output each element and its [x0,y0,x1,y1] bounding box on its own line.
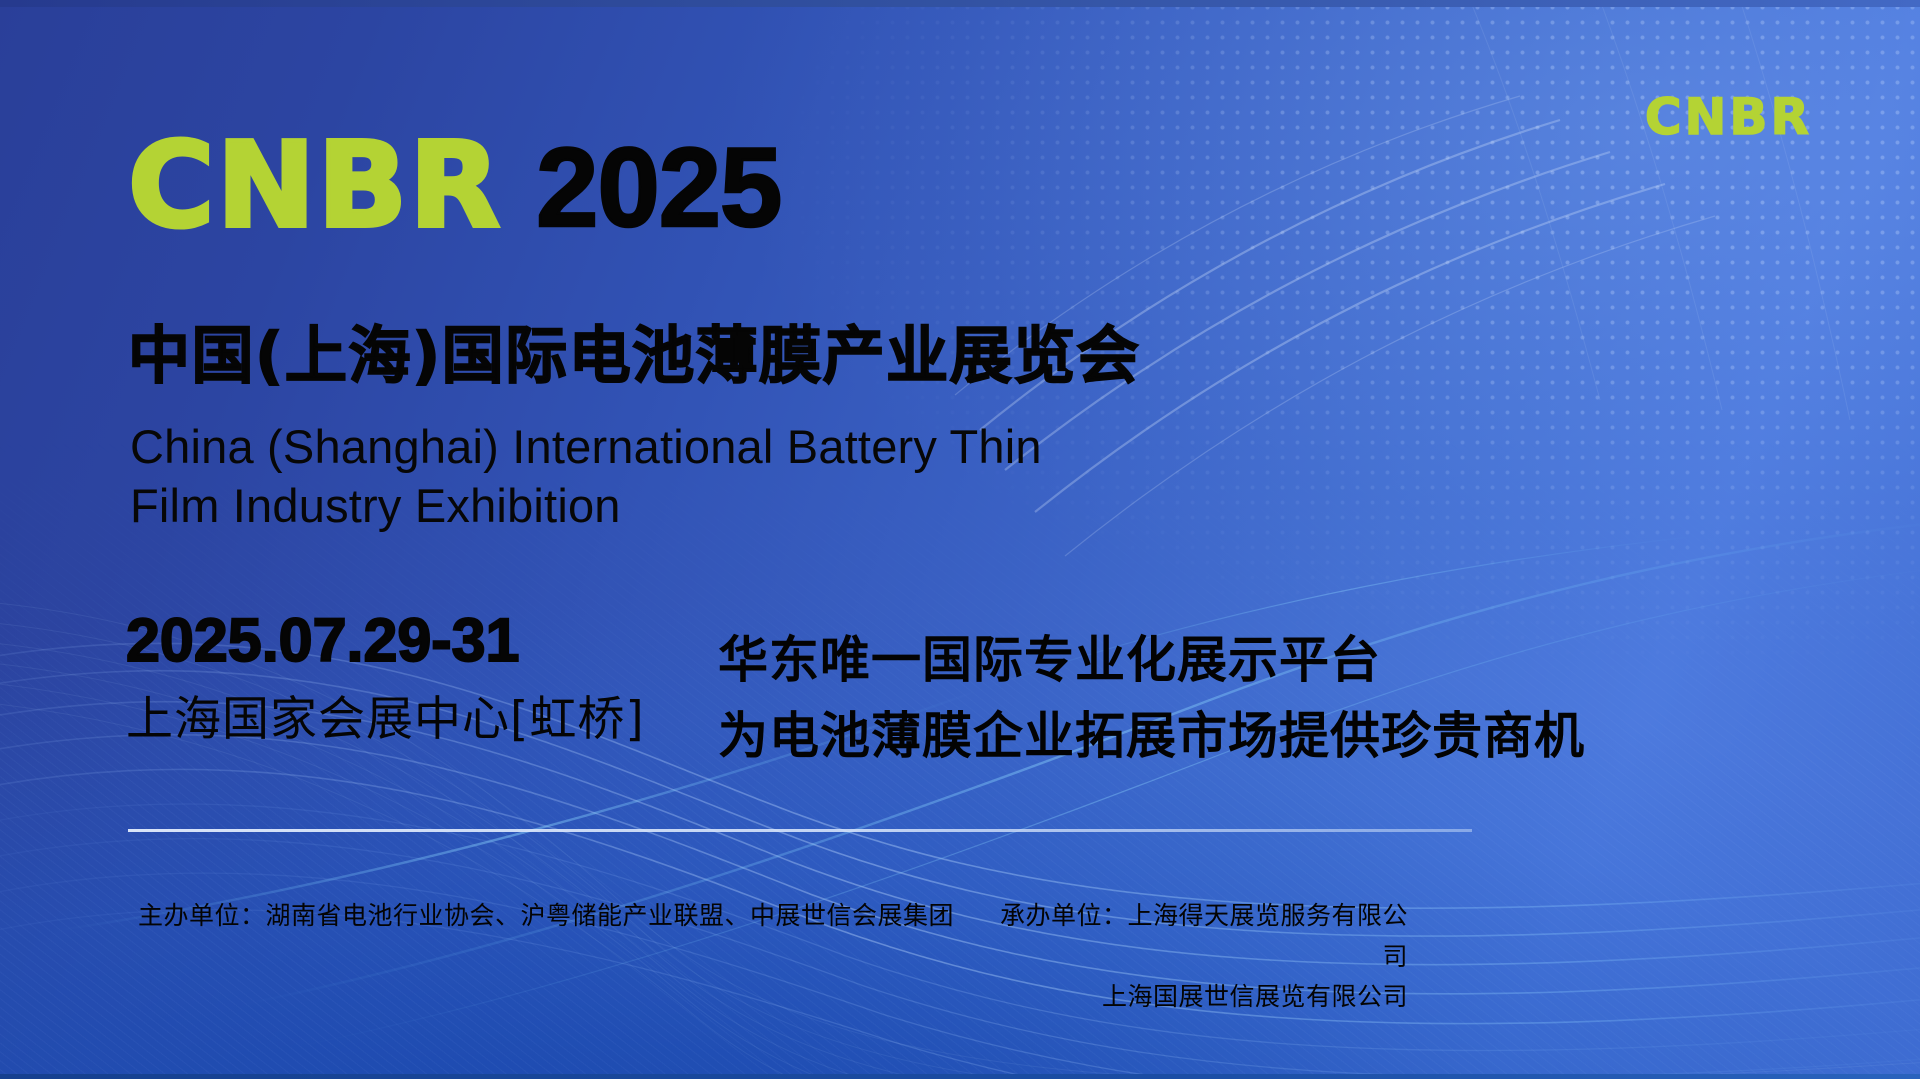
footer-co-organizers: 承办单位：上海得天展览服务有限公司 上海国展世信展览有限公司 [988,896,1408,1018]
event-date: 2025.07.29-31 [126,610,645,671]
exhibition-title-english: China (Shanghai) International Battery T… [130,418,1042,536]
event-slogan: 华东唯一国际专业化展示平台 为电池薄膜企业拓展市场提供珍贵商机 [718,622,1585,774]
brand-logo-text: CNBR [128,126,502,244]
event-details: 2025.07.29-31 上海国家会展中心[虹桥] [126,610,645,743]
co-organizer-line-1: 承办单位：上海得天展览服务有限公司 [988,896,1408,977]
footer-organizers: 主办单位：湖南省电池行业协会、沪粤储能产业联盟、中展世信会展集团 [138,896,954,932]
title-english-line-2: Film Industry Exhibition [130,477,1042,536]
slogan-line-1: 华东唯一国际专业化展示平台 [718,622,1585,698]
exhibition-poster: CNBR CNBR 2025 中国(上海)国际电池薄膜产业展览会 China (… [0,0,1920,1079]
horizontal-divider [128,829,1472,832]
edition-year: 2025 [536,132,781,244]
co-organizer-line-2: 上海国展世信展览有限公司 [988,977,1408,1018]
slogan-line-2: 为电池薄膜企业拓展市场提供珍贵商机 [718,698,1585,774]
title-english-line-1: China (Shanghai) International Battery T… [130,418,1042,477]
corner-brand-logo: CNBR [1645,92,1812,142]
event-venue: 上海国家会展中心[虹桥] [126,696,645,743]
main-title-lockup: CNBR 2025 [128,126,781,244]
exhibition-title-chinese: 中国(上海)国际电池薄膜产业展览会 [128,322,1140,390]
